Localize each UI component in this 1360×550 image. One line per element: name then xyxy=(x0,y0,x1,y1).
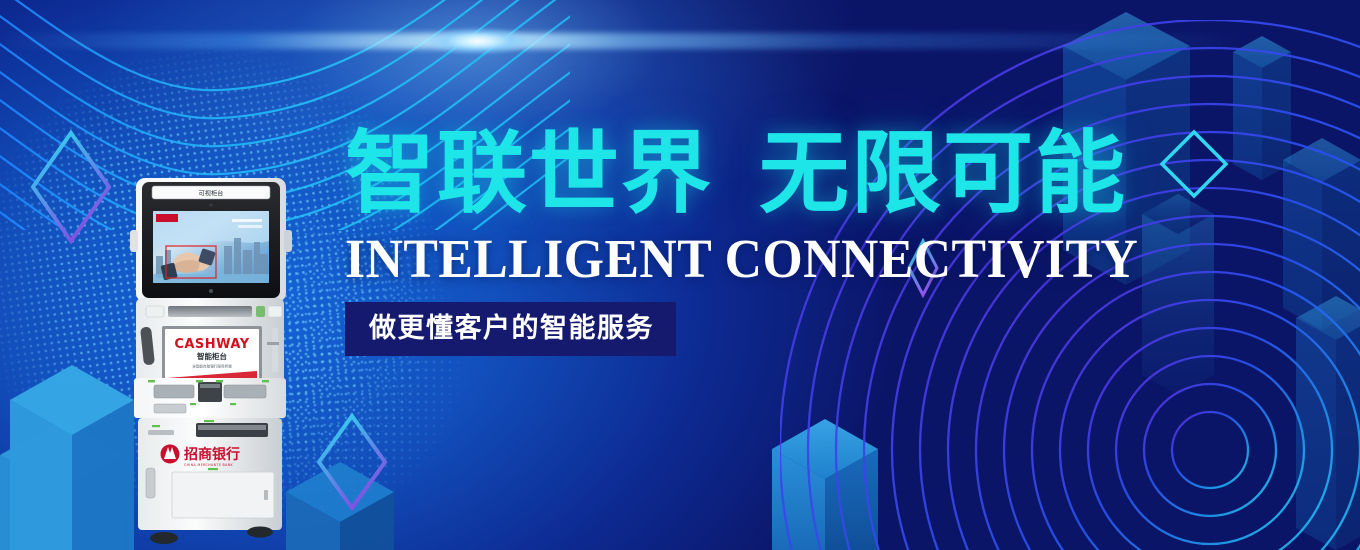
headline-part-1: 智联世界 xyxy=(345,124,713,224)
kiosk-brand-panel: CASHWAY 智能柜台 全智能自助银行服务终端 xyxy=(162,326,262,384)
diamond-outline-bottom-left xyxy=(315,412,389,512)
hero-banner: 可视柜台 xyxy=(0,0,1360,550)
kiosk-foot-right xyxy=(247,527,273,538)
kiosk-brand-subtext: 全智能自助银行服务终端 xyxy=(192,364,232,369)
light-burst-icon xyxy=(430,28,526,54)
tagline-text: 做更懂客户的智能服务 xyxy=(369,313,654,343)
diamond-outline-left xyxy=(28,128,114,246)
light-streak xyxy=(0,33,1360,49)
headline-part-2: 无限可能 xyxy=(759,124,1127,224)
hero-copy: 智联世界无限可能 INTELLIGENT CONNECTIVITY 做更懂客户的… xyxy=(345,122,1225,356)
kiosk-brand-label-cn: 智能柜台 xyxy=(197,351,227,361)
bank-logo-en: CHINA MERCHANTS BANK xyxy=(184,463,233,467)
kiosk-brand-label: CASHWAY xyxy=(174,337,249,352)
tagline-band: 做更懂客户的智能服务 xyxy=(345,302,676,356)
kiosk-slot-tray xyxy=(134,378,286,418)
kiosk-cabinet: 招商银行 CHINA MERCHANTS BANK xyxy=(138,418,282,530)
bank-logo-text: 招商银行 xyxy=(184,446,240,463)
kiosk-display-head: 可视柜台 xyxy=(130,178,292,302)
kiosk-top-banner-label: 可视柜台 xyxy=(199,189,224,197)
kiosk-foot-left xyxy=(150,532,178,544)
kiosk-upper-body: CASHWAY 智能柜台 全智能自助银行服务终端 xyxy=(136,298,284,384)
headline: 智联世界无限可能 xyxy=(345,122,1225,226)
subheadline: INTELLIGENT CONNECTIVITY xyxy=(345,230,1172,288)
self-service-banking-kiosk: 可视柜台 xyxy=(112,172,308,550)
